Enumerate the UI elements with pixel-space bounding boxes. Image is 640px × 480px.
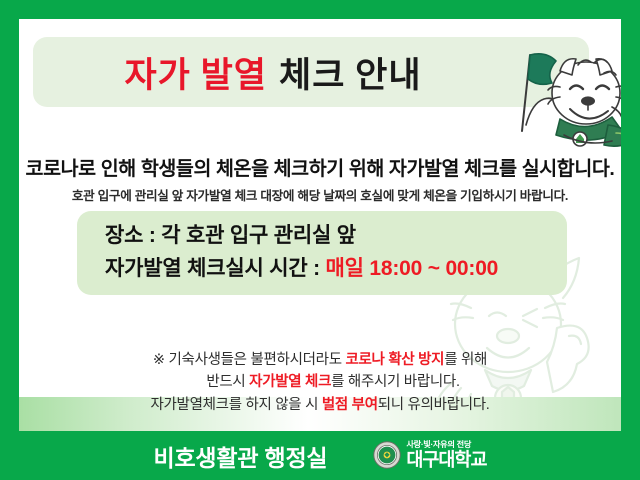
note-1-part-a: ※ 기숙사생들은 불편하시더라도 [153,352,346,368]
note-3-highlight: 벌점 부여 [322,397,378,413]
info-time-line: 자가발열 체크실시 시간 : 매일 18:00 ~ 00:00 [105,253,567,286]
note-line-2: 반드시 자가발열 체크를 해주시기 바랍니다. [19,371,621,393]
note-1-highlight: 코로나 확산 방지 [345,352,444,368]
university-logo: 사랑·빛·자유의 전당 대구대학교 [373,441,486,470]
headline-text: 코로나로 인해 학생들의 체온을 체크하기 위해 자가발열 체크를 실시합니다. [19,152,621,181]
note-2-part-a: 반드시 [206,374,249,390]
notice-poster: 자가 발열 체크 안내 [0,0,640,480]
note-1-part-b: 를 위해 [444,352,487,368]
subheadline-text: 호관 입구에 관리실 앞 자가발열 체크 대장에 해당 날짜의 호실에 맞게 체… [19,185,621,204]
page-title: 자가 발열 체크 안내 [33,37,513,107]
footer-office-name: 비호생활관 행정실 [154,439,328,473]
note-line-1: ※ 기숙사생들은 불편하시더라도 코로나 확산 방지를 위해 [19,349,621,371]
page-title-highlight: 자가 발열 [124,47,267,98]
note-2-highlight: 자가발열 체크 [249,374,331,390]
info-box-content: 장소 : 각 호관 입구 관리실 앞 자가발열 체크실시 시간 : 매일 18:… [77,211,567,295]
university-text-block: 사랑·빛·자유의 전당 대구대학교 [406,441,486,470]
notes-block: ※ 기숙사생들은 불편하시더라도 코로나 확산 방지를 위해 반드시 자가발열 … [19,349,621,416]
university-tagline: 사랑·빛·자유의 전당 [406,441,471,449]
tiger-mascot-with-flag-icon [508,39,621,149]
info-time-value: 매일 18:00 ~ 00:00 [326,257,499,280]
info-time-label: 자가발열 체크실시 시간 : [105,257,326,280]
note-2-part-b: 를 해주시기 바랍니다. [331,374,460,390]
note-3-part-a: 자가발열체크를 하지 않을 시 [150,397,321,413]
university-name: 대구대학교 [406,451,486,470]
footer-bar: 비호생활관 행정실 사랑·빛·자유의 전당 대구대학교 [0,431,640,480]
info-location-line: 장소 : 각 호관 입구 관리실 앞 [105,220,567,253]
note-3-part-b: 되니 유의바랍니다. [378,397,490,413]
page-title-rest: 체크 안내 [279,47,422,98]
poster-card: 자가 발열 체크 안내 [19,19,621,431]
note-line-3: 자가발열체크를 하지 않을 시 벌점 부여되니 유의바랍니다. [19,394,621,416]
university-emblem-icon [373,441,401,469]
